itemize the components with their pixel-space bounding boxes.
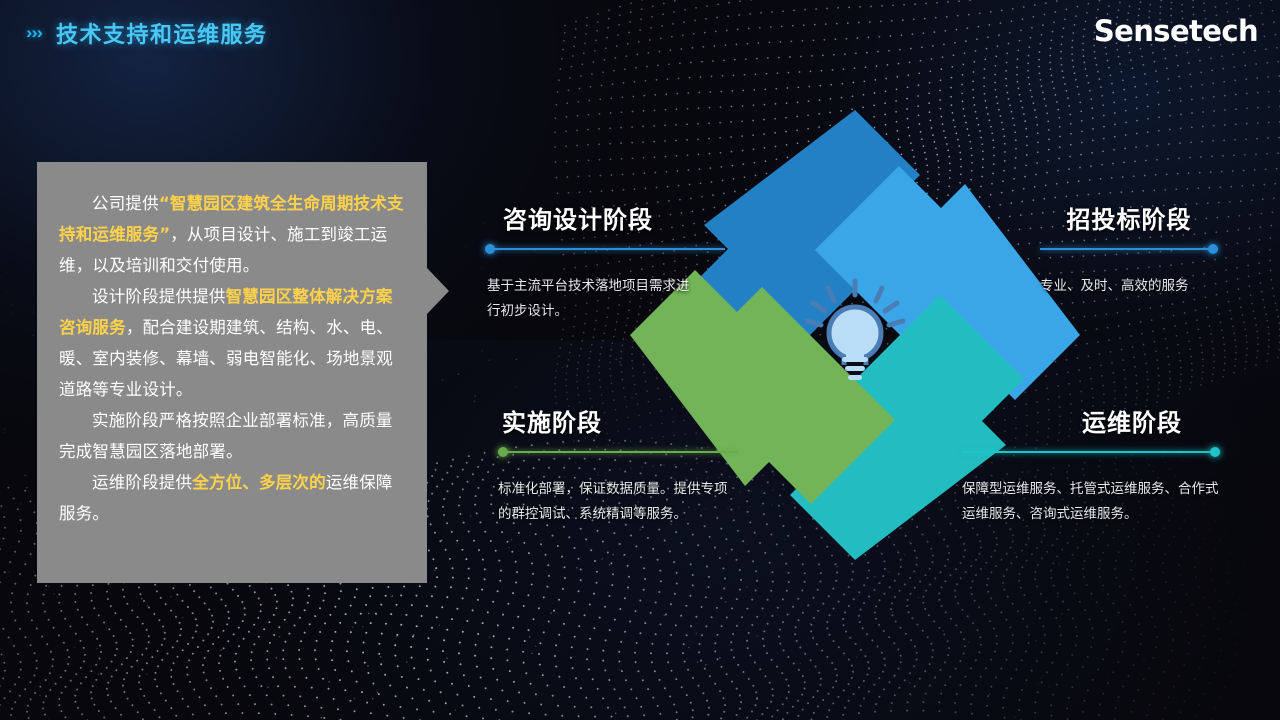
quadrant-implementation-desc: 标准化部署，保证数据质量。提供专项的群控调试、系统精调等服务。 — [498, 477, 733, 527]
quadrant-implementation-title: 实施阶段 — [502, 403, 738, 438]
panel-pointer-triangle — [427, 268, 449, 314]
quadrant-bid-desc: 专业、及时、高效的服务 — [1040, 274, 1218, 299]
panel-text: 设计阶段提供提供 — [92, 287, 226, 306]
panel-text: 公司提供 — [92, 194, 159, 213]
quadrant-implementation-rule — [498, 447, 738, 457]
slide-header: ››› 技术支持和运维服务 — [0, 0, 1280, 66]
panel-text: 实施阶段严格按照企业部署标准，高质量完成智慧园区落地部署。 — [59, 411, 393, 461]
description-panel: 公司提供“智慧园区建筑全生命周期技术支持和运维服务”，从项目设计、施工到竣工运维… — [37, 162, 427, 583]
panel-paragraph: 运维阶段提供全方位、多层次的运维保障服务。 — [59, 467, 405, 529]
quadrant-operations-desc: 保障型运维服务、托管式运维服务、合作式运维服务、咨询式运维服务。 — [962, 477, 1220, 527]
panel-paragraph: 实施阶段严格按照企业部署标准，高质量完成智慧园区落地部署。 — [59, 405, 405, 467]
panel-paragraph: 设计阶段提供提供智慧园区整体解决方案咨询服务，配合建设期建筑、结构、水、电、暖、… — [59, 281, 405, 405]
quadrant-operations-rule — [962, 447, 1220, 457]
quadrant-implementation[interactable]: 实施阶段 标准化部署，保证数据质量。提供专项的群控调试、系统精调等服务。 — [498, 403, 738, 527]
quadrant-consult-desc: 基于主流平台技术落地项目需求进行初步设计。 — [487, 274, 702, 324]
page-title: 技术支持和运维服务 — [56, 17, 268, 49]
panel-text-body: 公司提供“智慧园区建筑全生命周期技术支持和运维服务”，从项目设计、施工到竣工运维… — [59, 188, 405, 529]
panel-highlight-text: 全方位、多层次的 — [192, 473, 326, 492]
panel-paragraph: 公司提供“智慧园区建筑全生命周期技术支持和运维服务”，从项目设计、施工到竣工运维… — [59, 188, 405, 281]
quadrant-bid-rule — [1040, 244, 1218, 254]
quadrant-operations-title: 运维阶段 — [962, 403, 1220, 438]
panel-text: 运维阶段提供 — [92, 473, 192, 492]
quadrant-bid-title: 招投标阶段 — [1040, 200, 1218, 235]
quadrant-consult[interactable]: 咨询设计阶段 基于主流平台技术落地项目需求进行初步设计。 — [485, 200, 725, 324]
quadrant-consult-rule — [485, 244, 725, 254]
triple-chevron-right-icon: ››› — [26, 24, 42, 43]
quadrant-consult-title: 咨询设计阶段 — [503, 200, 725, 235]
quadrant-bid[interactable]: 招投标阶段 专业、及时、高效的服务 — [1040, 200, 1218, 299]
quadrant-operations[interactable]: 运维阶段 保障型运维服务、托管式运维服务、合作式运维服务、咨询式运维服务。 — [962, 403, 1220, 527]
